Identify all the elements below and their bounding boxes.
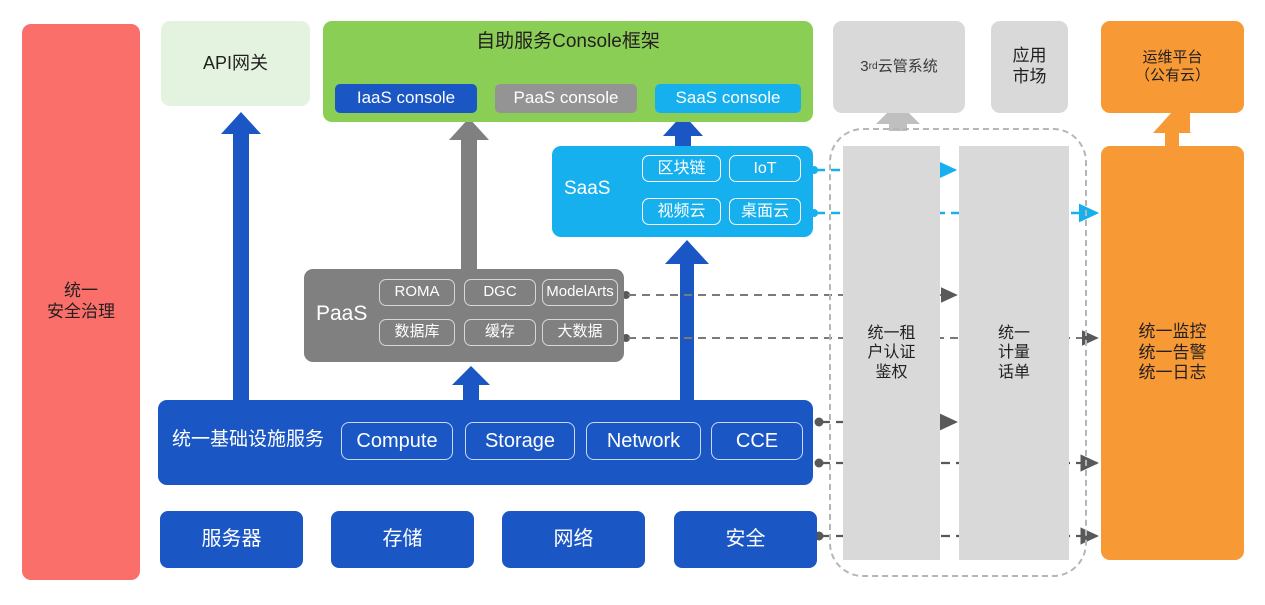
infra-chip-cce[interactable]: CCE [711,422,803,460]
paas-chip-modelarts[interactable]: ModelArts [542,279,618,306]
architecture-diagram-canvas: 统一 安全治理 API网关 自助服务Console框架 IaaS console… [0,0,1265,605]
arrow-ops-to-ops-platform [1153,112,1191,146]
arrow-infra-to-saas [665,240,709,400]
shared-service-tenant-auth: 统一租 户认证 鉴权 [843,146,940,560]
unified-infrastructure-bar: 统一基础设施服务 Compute Storage Network CCE [158,400,813,485]
resource-box-server: 服务器 [160,511,303,568]
paas-console-chip[interactable]: PaaS console [495,84,637,113]
infra-chip-network[interactable]: Network [586,422,701,460]
saas-chip-blockchain[interactable]: 区块链 [642,155,721,182]
third-party-superscript: rd [869,61,878,73]
third-party-prefix: 3 [860,58,868,76]
saas-layer-label: SaaS [564,177,610,200]
third-party-cloud-mgmt-box: 3rd云管系统 [833,21,965,113]
paas-layer-block: PaaS ROMA DGC ModelArts 数据库 缓存 大数据 [304,269,624,362]
console-framework-panel: 自助服务Console框架 IaaS console PaaS console … [323,21,813,122]
saas-chip-desktop-cloud[interactable]: 桌面云 [729,198,801,225]
saas-chip-iot[interactable]: IoT [729,155,801,182]
api-gateway-box: API网关 [161,21,310,106]
paas-chip-database[interactable]: 数据库 [379,319,455,346]
arrow-infra-to-api-gateway [221,112,261,400]
resource-box-network: 网络 [502,511,645,568]
infra-chip-compute[interactable]: Compute [341,422,453,460]
app-market-box: 应用 市场 [991,21,1068,113]
security-governance-pillar: 统一 安全治理 [22,24,140,580]
arrow-paas-to-paas-console [449,118,489,269]
resource-box-storage: 存储 [331,511,474,568]
saas-chip-video-cloud[interactable]: 视频云 [642,198,721,225]
console-framework-title: 自助服务Console框架 [323,30,813,53]
paas-layer-label: PaaS [316,301,367,327]
infra-chip-storage[interactable]: Storage [465,422,575,460]
iaas-console-chip[interactable]: IaaS console [335,84,477,113]
saas-layer-block: SaaS 区块链 IoT 视频云 桌面云 [552,146,813,237]
shared-service-metering-billing: 统一 计量 话单 [959,146,1069,560]
paas-chip-bigdata[interactable]: 大数据 [542,319,618,346]
unified-infrastructure-label: 统一基础设施服务 [172,428,324,451]
paas-chip-dgc[interactable]: DGC [464,279,536,306]
paas-chip-roma[interactable]: ROMA [379,279,455,306]
ops-monitoring-pillar: 统一监控 统一告警 统一日志 [1101,146,1244,560]
paas-chip-cache[interactable]: 缓存 [464,319,536,346]
saas-console-chip[interactable]: SaaS console [655,84,801,113]
resource-box-security: 安全 [674,511,817,568]
arrow-infra-to-paas [452,366,490,400]
ops-platform-public-cloud-box: 运维平台 （公有云） [1101,21,1244,113]
third-party-suffix: 云管系统 [878,58,938,76]
